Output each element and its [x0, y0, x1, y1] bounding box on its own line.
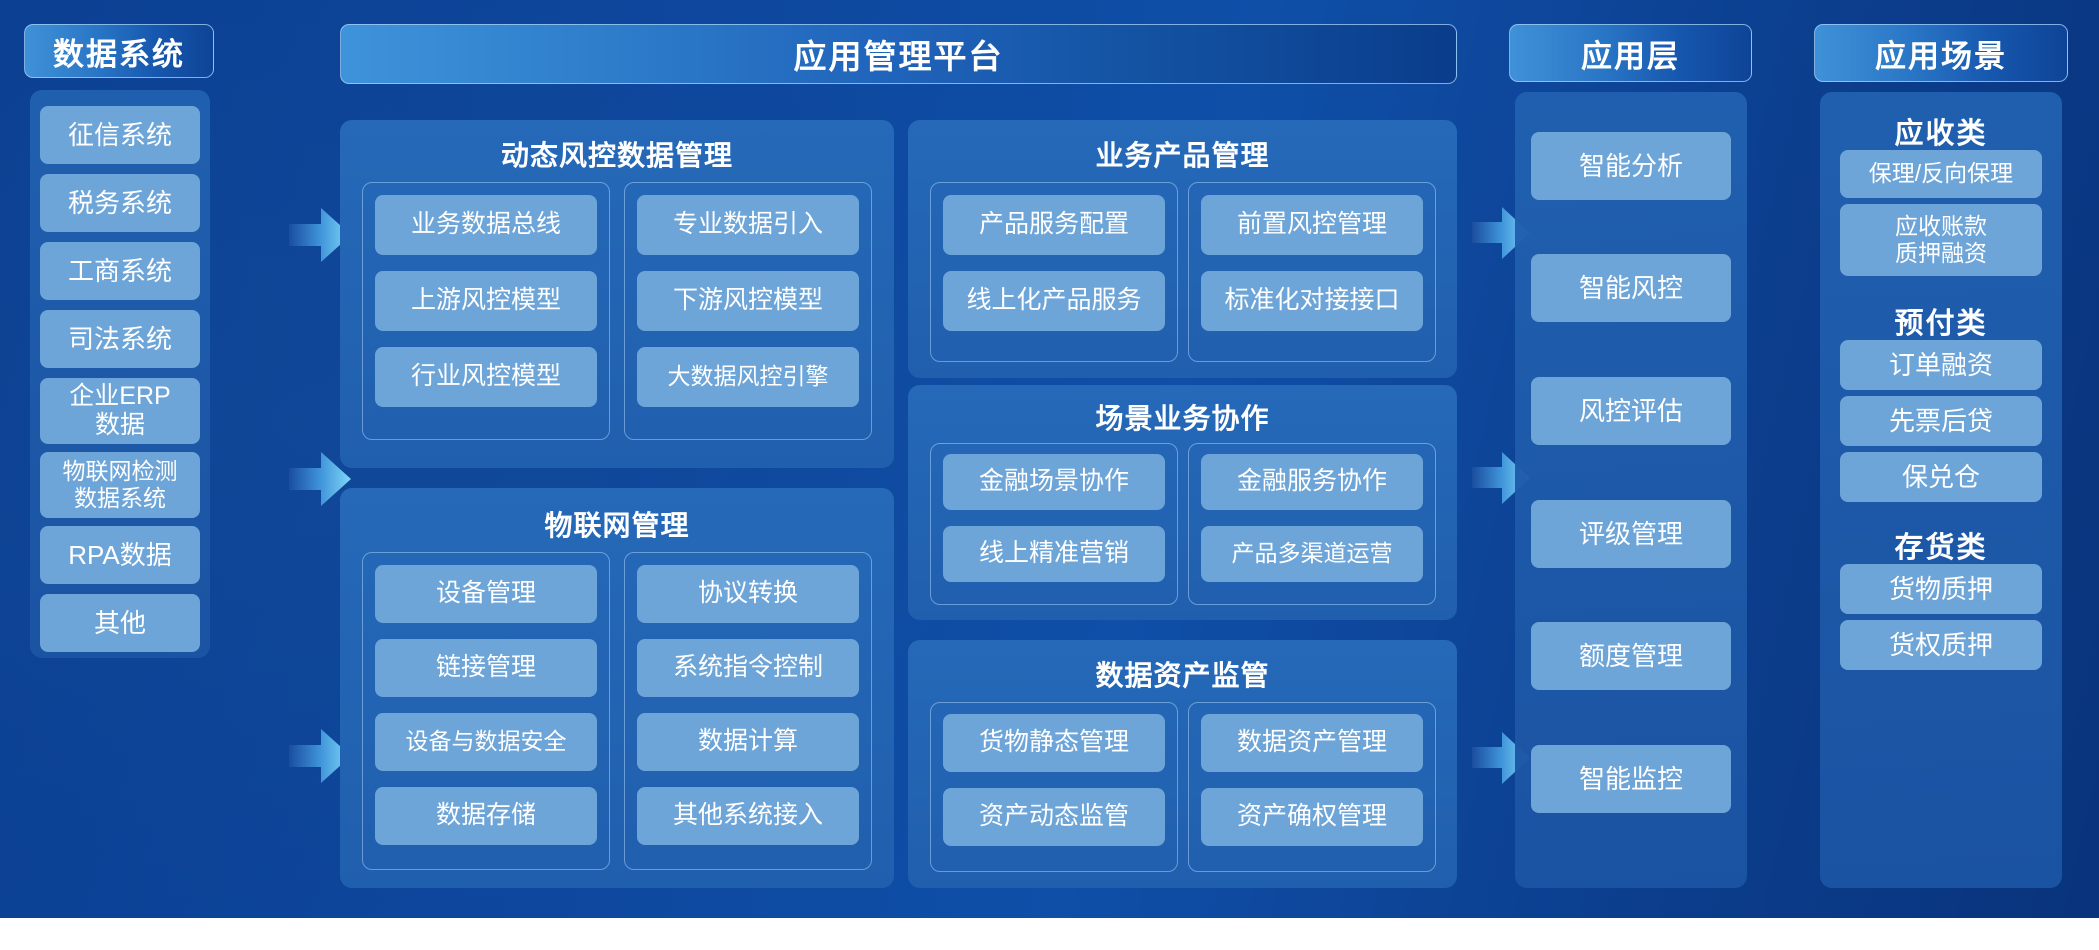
- subbox-asset-left: 货物静态管理 资产动态监管: [930, 702, 1178, 872]
- chip-iot-right-0[interactable]: 协议转换: [637, 565, 859, 623]
- panel-scenario-collab: 场景业务协作 金融场景协作 线上精准营销 金融服务协作 产品多渠道运营: [908, 385, 1457, 620]
- chip-scenario-2-0[interactable]: 货物质押: [1840, 564, 2042, 614]
- panel-business-product: 业务产品管理 产品服务配置 线上化产品服务 前置风控管理 标准化对接接口: [908, 120, 1457, 378]
- subbox-iot-left: 设备管理 链接管理 设备与数据安全 数据存储: [362, 552, 610, 870]
- chip-product-left-1[interactable]: 线上化产品服务: [943, 271, 1165, 331]
- chip-scenario-1-0[interactable]: 订单融资: [1840, 340, 2042, 390]
- group-label-receivables: 应收类: [1820, 110, 2062, 152]
- chip-scenario-2-1[interactable]: 货权质押: [1840, 620, 2042, 670]
- chip-dynamic-right-0[interactable]: 专业数据引入: [637, 195, 859, 255]
- chip-dynamic-left-0[interactable]: 业务数据总线: [375, 195, 597, 255]
- subbox-product-left: 产品服务配置 线上化产品服务: [930, 182, 1178, 362]
- panel-data-asset-supervision: 数据资产监管 货物静态管理 资产动态监管 数据资产管理 资产确权管理: [908, 640, 1457, 888]
- subbox-collab-left: 金融场景协作 线上精准营销: [930, 443, 1178, 605]
- chip-data-system-6[interactable]: RPA数据: [40, 526, 200, 584]
- subbox-asset-right: 数据资产管理 资产确权管理: [1188, 702, 1436, 872]
- chip-collab-right-0[interactable]: 金融服务协作: [1201, 454, 1423, 510]
- chip-iot-right-1[interactable]: 系统指令控制: [637, 639, 859, 697]
- chip-iot-left-3[interactable]: 数据存储: [375, 787, 597, 845]
- chip-data-system-3[interactable]: 司法系统: [40, 310, 200, 368]
- column-header-application-layer[interactable]: 应用层: [1509, 24, 1752, 82]
- diagram-canvas: 数据系统 征信系统 税务系统 工商系统 司法系统 企业ERP 数据 物联网检测 …: [0, 0, 2099, 918]
- chip-asset-right-0[interactable]: 数据资产管理: [1201, 714, 1423, 772]
- subbox-iot-right: 协议转换 系统指令控制 数据计算 其他系统接入: [624, 552, 872, 870]
- chip-data-system-4[interactable]: 企业ERP 数据: [40, 378, 200, 444]
- chip-asset-right-1[interactable]: 资产确权管理: [1201, 788, 1423, 846]
- chip-scenario-0-0[interactable]: 保理/反向保理: [1840, 150, 2042, 198]
- chip-collab-right-1[interactable]: 产品多渠道运营: [1201, 526, 1423, 582]
- chip-asset-left-0[interactable]: 货物静态管理: [943, 714, 1165, 772]
- chip-scenario-1-1[interactable]: 先票后贷: [1840, 396, 2042, 446]
- chip-application-layer-2[interactable]: 风控评估: [1531, 377, 1731, 445]
- chip-collab-left-1[interactable]: 线上精准营销: [943, 526, 1165, 582]
- chip-product-left-0[interactable]: 产品服务配置: [943, 195, 1165, 255]
- column-body-scenarios: 应收类 保理/反向保理 应收账款 质押融资 预付类 订单融资 先票后贷 保兑仓 …: [1820, 92, 2062, 888]
- chip-iot-left-1[interactable]: 链接管理: [375, 639, 597, 697]
- subbox-collab-right: 金融服务协作 产品多渠道运营: [1188, 443, 1436, 605]
- panel-title-dynamic-risk-data: 动态风控数据管理: [340, 134, 894, 174]
- chip-product-right-1[interactable]: 标准化对接接口: [1201, 271, 1423, 331]
- panel-title-scenario-collab: 场景业务协作: [908, 397, 1457, 437]
- chip-application-layer-1[interactable]: 智能风控: [1531, 254, 1731, 322]
- chip-application-layer-5[interactable]: 智能监控: [1531, 745, 1731, 813]
- panel-iot-management: 物联网管理 设备管理 链接管理 设备与数据安全 数据存储 协议转换 系统指令控制…: [340, 488, 894, 888]
- column-header-data-systems[interactable]: 数据系统: [24, 24, 214, 78]
- panel-dynamic-risk-data: 动态风控数据管理 业务数据总线 上游风控模型 行业风控模型 专业数据引入 下游风…: [340, 120, 894, 468]
- diagram-root: 数据系统 征信系统 税务系统 工商系统 司法系统 企业ERP 数据 物联网检测 …: [0, 0, 2099, 950]
- chip-data-system-2[interactable]: 工商系统: [40, 242, 200, 300]
- chip-application-layer-4[interactable]: 额度管理: [1531, 622, 1731, 690]
- panel-title-iot-management: 物联网管理: [340, 504, 894, 544]
- column-header-platform[interactable]: 应用管理平台: [340, 24, 1457, 84]
- panel-title-business-product: 业务产品管理: [908, 134, 1457, 174]
- chip-iot-left-0[interactable]: 设备管理: [375, 565, 597, 623]
- subbox-dynamic-right: 专业数据引入 下游风控模型 大数据风控引擎: [624, 182, 872, 440]
- chip-application-layer-3[interactable]: 评级管理: [1531, 500, 1731, 568]
- subbox-dynamic-left: 业务数据总线 上游风控模型 行业风控模型: [362, 182, 610, 440]
- chip-dynamic-left-2[interactable]: 行业风控模型: [375, 347, 597, 407]
- chip-iot-left-2[interactable]: 设备与数据安全: [375, 713, 597, 771]
- chip-application-layer-0[interactable]: 智能分析: [1531, 132, 1731, 200]
- subbox-product-right: 前置风控管理 标准化对接接口: [1188, 182, 1436, 362]
- chip-dynamic-right-1[interactable]: 下游风控模型: [637, 271, 859, 331]
- chip-dynamic-right-2[interactable]: 大数据风控引擎: [637, 347, 859, 407]
- chip-scenario-0-1[interactable]: 应收账款 质押融资: [1840, 204, 2042, 276]
- chip-iot-right-2[interactable]: 数据计算: [637, 713, 859, 771]
- chip-data-system-1[interactable]: 税务系统: [40, 174, 200, 232]
- panel-title-data-asset-supervision: 数据资产监管: [908, 654, 1457, 694]
- chip-collab-left-0[interactable]: 金融场景协作: [943, 454, 1165, 510]
- chip-scenario-1-2[interactable]: 保兑仓: [1840, 452, 2042, 502]
- group-label-prepaid: 预付类: [1820, 300, 2062, 342]
- chip-data-system-5[interactable]: 物联网检测 数据系统: [40, 452, 200, 518]
- chip-data-system-0[interactable]: 征信系统: [40, 106, 200, 164]
- column-header-scenarios[interactable]: 应用场景: [1814, 24, 2068, 82]
- chip-dynamic-left-1[interactable]: 上游风控模型: [375, 271, 597, 331]
- chip-data-system-7[interactable]: 其他: [40, 594, 200, 652]
- column-body-application-layer: 智能分析 智能风控 风控评估 评级管理 额度管理 智能监控: [1515, 92, 1747, 888]
- chip-product-right-0[interactable]: 前置风控管理: [1201, 195, 1423, 255]
- column-body-data-systems: 征信系统 税务系统 工商系统 司法系统 企业ERP 数据 物联网检测 数据系统 …: [30, 90, 210, 658]
- chip-asset-left-1[interactable]: 资产动态监管: [943, 788, 1165, 846]
- group-label-inventory: 存货类: [1820, 524, 2062, 566]
- chip-iot-right-3[interactable]: 其他系统接入: [637, 787, 859, 845]
